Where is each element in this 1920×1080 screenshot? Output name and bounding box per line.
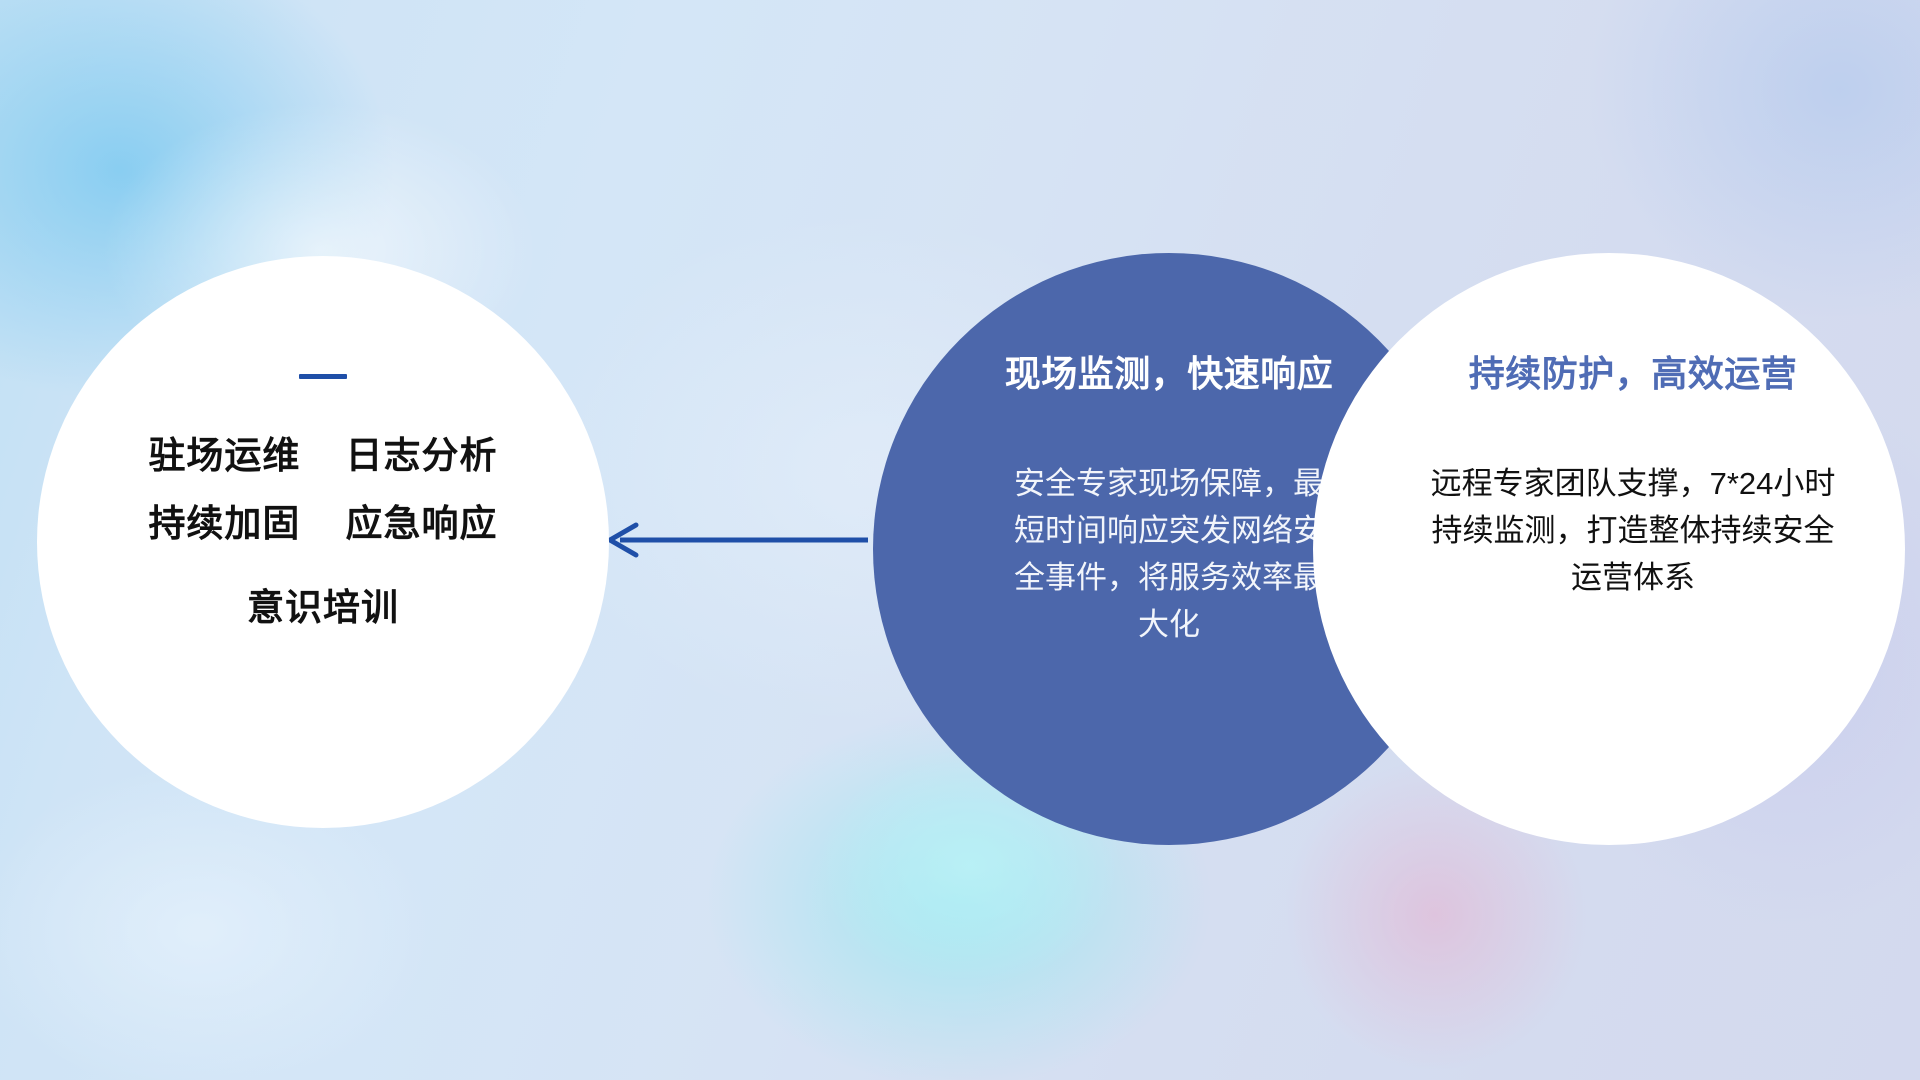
capability-circle-left-content: 驻场运维 日志分析 持续加固 应急响应 意识培训 — [37, 256, 609, 828]
slide-canvas: 驻场运维 日志分析 持续加固 应急响应 意识培训 现场监测，快速响应 安全专家现… — [0, 0, 1920, 1080]
capability-circle-left[interactable]: 驻场运维 日志分析 持续加固 应急响应 意识培训 — [37, 256, 609, 828]
feature-title-remote: 持续防护，高效运营 — [1469, 354, 1798, 394]
feature-body-onsite: 安全专家现场保障，最短时间响应突发网络安全事件，将服务效率最大化 — [1004, 460, 1334, 648]
capability-line-1: 驻场运维 日志分析 — [148, 437, 497, 474]
capability-line-3: 意识培训 — [247, 589, 399, 626]
flow-arrow-icon — [596, 516, 876, 564]
feature-circle-remote-content: 持续防护，高效运营 远程专家团队支撑，7*24小时持续监测，打造整体持续安全运营… — [1313, 253, 1905, 845]
feature-circle-remote[interactable]: 持续防护，高效运营 远程专家团队支撑，7*24小时持续监测，打造整体持续安全运营… — [1313, 253, 1905, 845]
blue-divider-rule — [299, 374, 347, 379]
feature-title-onsite: 现场监测，快速响应 — [1005, 354, 1334, 394]
feature-body-remote: 远程专家团队支撑，7*24小时持续监测，打造整体持续安全运营体系 — [1423, 460, 1843, 601]
capability-line-2: 持续加固 应急响应 — [148, 505, 497, 542]
